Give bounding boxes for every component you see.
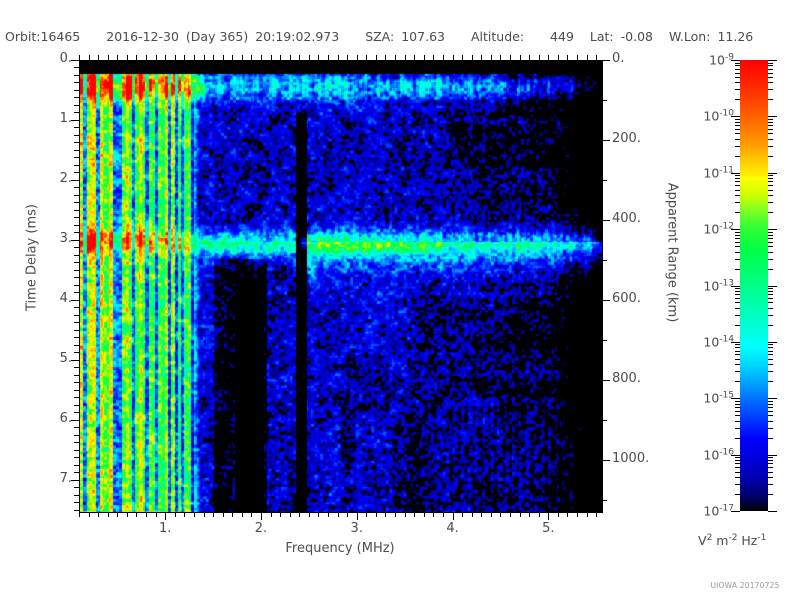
- y-minor-tick: [74, 472, 79, 473]
- frequency-axis-title: Frequency (MHz): [79, 541, 601, 556]
- x-minor-tick: [223, 512, 224, 517]
- colorbar-tick-label: 10-12: [703, 222, 734, 237]
- colorbar-minor-tick-right: [768, 235, 773, 236]
- x-top-tick: [453, 55, 454, 60]
- x-minor-tick: [251, 512, 252, 517]
- sza-value: 107.63: [401, 29, 445, 44]
- colorbar-minor-tick-right: [768, 181, 773, 182]
- y-minor-tick: [74, 345, 79, 346]
- colorbar-minor-tick-right: [768, 259, 773, 260]
- x-minor-tick: [98, 512, 99, 517]
- colorbar-tick-mantissa: 10: [703, 278, 719, 293]
- y-minor-tick: [74, 412, 79, 413]
- y-minor-tick: [74, 150, 79, 151]
- x-top-tick: [510, 55, 511, 60]
- x-minor-tick: [366, 512, 367, 517]
- y-minor-tick: [74, 75, 79, 76]
- x-minor-tick: [376, 512, 377, 517]
- x-minor-tick: [424, 512, 425, 517]
- y-minor-tick: [74, 375, 79, 376]
- latitude-label: Lat:: [590, 29, 614, 44]
- y-major-tick: [71, 300, 79, 301]
- colorbar-minor-tick-right: [768, 133, 773, 134]
- colorbar-minor-tick-right: [768, 139, 773, 140]
- colorbar-minor-tick-right: [768, 415, 773, 416]
- x-minor-tick: [347, 512, 348, 517]
- x-top-tick: [290, 55, 291, 60]
- time-delay-tick-label: 6.: [60, 411, 72, 426]
- colorbar-minor-tick-right: [768, 238, 773, 239]
- time-delay-axis-title: Time Delay (ms): [25, 188, 40, 328]
- y-minor-tick: [74, 450, 79, 451]
- x-minor-tick: [136, 512, 137, 517]
- y-minor-tick: [74, 255, 79, 256]
- y-minor-tick: [74, 292, 79, 293]
- y-minor-tick: [74, 105, 79, 106]
- y-minor-tick: [74, 232, 79, 233]
- x-top-tick: [146, 55, 147, 60]
- x-minor-tick: [89, 512, 90, 517]
- x-minor-tick: [414, 512, 415, 517]
- colorbar-tick-mantissa: 10: [703, 447, 719, 462]
- y2-minor-tick: [602, 180, 607, 181]
- y-minor-tick: [74, 90, 79, 91]
- x-top-tick: [328, 55, 329, 60]
- apparent-range-tick-label: 1000.: [612, 451, 649, 466]
- x-top-tick: [299, 55, 300, 60]
- colorbar-minor-tick-right: [768, 411, 773, 412]
- colorbar-major-tick-right: [768, 229, 777, 230]
- x-top-tick: [405, 55, 406, 60]
- colorbar-minor-tick-right: [768, 371, 773, 372]
- y2-major-tick: [602, 460, 610, 461]
- x-top-tick: [136, 55, 137, 60]
- colorbar-minor-tick-right: [768, 472, 773, 473]
- x-minor-tick: [204, 512, 205, 517]
- x-top-tick: [472, 55, 473, 60]
- x-top-tick: [596, 55, 597, 60]
- colorbar-minor-tick-right: [768, 252, 773, 253]
- x-minor-tick: [472, 512, 473, 517]
- x-major-tick: [165, 512, 166, 520]
- x-top-tick: [232, 55, 233, 60]
- y-major-tick: [71, 180, 79, 181]
- y2-minor-tick: [602, 260, 607, 261]
- x-top-tick: [567, 55, 568, 60]
- y-minor-tick: [74, 367, 79, 368]
- x-top-tick: [558, 55, 559, 60]
- x-top-tick: [271, 55, 272, 60]
- x-minor-tick: [577, 512, 578, 517]
- y2-major-tick: [602, 220, 610, 221]
- frequency-tick-label: 1.: [159, 521, 171, 536]
- y-minor-tick: [74, 82, 79, 83]
- colorbar-tick-exponent: -16: [719, 447, 734, 457]
- y2-major-tick: [602, 60, 610, 61]
- y-major-tick: [71, 420, 79, 421]
- x-top-tick: [385, 55, 386, 60]
- y2-major-tick: [602, 300, 610, 301]
- x-top-tick: [108, 55, 109, 60]
- colorbar-minor-tick-right: [768, 404, 773, 405]
- y-minor-tick: [74, 390, 79, 391]
- colorbar-tick-exponent: -17: [719, 503, 734, 513]
- colorbar-minor-tick-right: [768, 467, 773, 468]
- colorbar-tick-label: 10-10: [703, 109, 734, 124]
- x-minor-tick: [481, 512, 482, 517]
- colorbar-minor-tick-right: [768, 294, 773, 295]
- x-minor-tick: [194, 512, 195, 517]
- y-minor-tick: [74, 157, 79, 158]
- time-delay-tick-label: 2.: [60, 171, 72, 186]
- colorbar-minor-tick-right: [768, 463, 773, 464]
- colorbar-tick-exponent: -13: [719, 278, 734, 288]
- y-minor-tick: [74, 442, 79, 443]
- x-major-tick: [357, 512, 358, 520]
- x-top-tick: [175, 55, 176, 60]
- x-top-tick: [127, 55, 128, 60]
- x-minor-tick: [290, 512, 291, 517]
- colorbar-minor-tick-right: [768, 407, 773, 408]
- x-top-tick: [424, 55, 425, 60]
- y-minor-tick: [74, 307, 79, 308]
- colorbar-minor-tick-right: [768, 65, 773, 66]
- unit-hz: Hz: [737, 533, 757, 548]
- time-delay-tick-label: 4.: [60, 291, 72, 306]
- y-minor-tick: [74, 97, 79, 98]
- x-minor-tick: [385, 512, 386, 517]
- y-minor-tick: [74, 225, 79, 226]
- colorbar-minor-tick-right: [768, 359, 773, 360]
- colorbar-minor-tick-right: [768, 77, 773, 78]
- observation-date: 2016-12-30: [106, 29, 179, 44]
- observation-time: 20:19:02.973: [255, 29, 339, 44]
- colorbar-tick-label: 10-16: [703, 447, 734, 462]
- x-minor-tick: [213, 512, 214, 517]
- x-minor-tick: [184, 512, 185, 517]
- colorbar-minor-tick-right: [768, 232, 773, 233]
- colorbar-minor-tick-right: [768, 477, 773, 478]
- colorbar-tick-exponent: -12: [719, 222, 734, 232]
- y-minor-tick: [74, 285, 79, 286]
- x-minor-tick: [175, 512, 176, 517]
- colorbar-minor-tick-right: [768, 298, 773, 299]
- colorbar-minor-tick-right: [768, 156, 773, 157]
- apparent-range-tick-label: 400.: [612, 211, 641, 226]
- x-top-tick: [414, 55, 415, 60]
- x-major-tick: [453, 512, 454, 520]
- x-top-tick: [548, 55, 549, 60]
- x-top-tick: [204, 55, 205, 60]
- x-top-tick: [165, 55, 166, 60]
- time-delay-tick-label: 7.: [60, 471, 72, 486]
- y-minor-tick: [74, 315, 79, 316]
- x-minor-tick: [567, 512, 568, 517]
- x-top-tick: [539, 55, 540, 60]
- x-top-tick: [395, 55, 396, 60]
- x-top-tick: [338, 55, 339, 60]
- x-top-tick: [433, 55, 434, 60]
- colorbar-tick-labels: 10-910-1010-1110-1210-1310-1410-1510-161…: [676, 0, 734, 600]
- x-minor-tick: [146, 512, 147, 517]
- x-minor-tick: [491, 512, 492, 517]
- colorbar-major-tick-right: [768, 511, 777, 512]
- colorbar-minor-tick-right: [768, 347, 773, 348]
- colorbar-minor-tick-right: [768, 175, 773, 176]
- y-minor-tick: [74, 397, 79, 398]
- colorbar-minor-tick-right: [768, 99, 773, 100]
- colorbar-minor-tick-right: [768, 69, 773, 70]
- colorbar-tick-label: 10-17: [703, 503, 734, 518]
- y-minor-tick: [74, 127, 79, 128]
- colorbar-minor-tick-right: [768, 202, 773, 203]
- unit-v: V: [698, 533, 707, 548]
- x-top-tick: [318, 55, 319, 60]
- x-minor-tick: [338, 512, 339, 517]
- y-minor-tick: [74, 510, 79, 511]
- x-top-tick: [529, 55, 530, 60]
- colorbar-minor-tick-right: [768, 185, 773, 186]
- x-top-tick: [376, 55, 377, 60]
- colorbar-major-tick-right: [768, 116, 777, 117]
- colorbar-minor-tick-right: [768, 325, 773, 326]
- y-minor-tick: [74, 277, 79, 278]
- y2-major-tick: [602, 380, 610, 381]
- colorbar-minor-tick-right: [768, 381, 773, 382]
- x-minor-tick: [318, 512, 319, 517]
- y-minor-tick: [74, 382, 79, 383]
- x-top-tick: [366, 55, 367, 60]
- x-top-tick: [357, 55, 358, 60]
- y-minor-tick: [74, 195, 79, 196]
- colorbar-minor-tick-right: [768, 146, 773, 147]
- colorbar-major-tick-right: [768, 173, 777, 174]
- colorbar-minor-tick-right: [768, 421, 773, 422]
- frequency-tick-label: 3.: [351, 521, 363, 536]
- colorbar-minor-tick-right: [768, 344, 773, 345]
- y-major-tick: [71, 120, 79, 121]
- y2-minor-tick: [602, 340, 607, 341]
- colorbar-tick-mantissa: 10: [703, 391, 719, 406]
- colorbar-minor-tick-right: [768, 494, 773, 495]
- colorbar-major-tick-right: [768, 286, 777, 287]
- y-minor-tick: [74, 435, 79, 436]
- x-top-tick: [251, 55, 252, 60]
- x-top-tick: [462, 55, 463, 60]
- frequency-tick-label: 5.: [542, 521, 554, 536]
- apparent-range-tick-label: 800.: [612, 371, 641, 386]
- x-minor-tick: [117, 512, 118, 517]
- x-minor-tick: [309, 512, 310, 517]
- x-top-tick: [280, 55, 281, 60]
- x-minor-tick: [79, 512, 80, 517]
- colorbar-minor-tick-right: [768, 178, 773, 179]
- colorbar-minor-tick-right: [768, 457, 773, 458]
- x-top-tick: [213, 55, 214, 60]
- colorbar-tick-label: 10-9: [709, 52, 734, 67]
- colorbar-minor-tick-right: [768, 242, 773, 243]
- x-minor-tick: [328, 512, 329, 517]
- colorbar-minor-tick-right: [768, 125, 773, 126]
- colorbar-minor-tick-right: [768, 212, 773, 213]
- x-top-tick: [587, 55, 588, 60]
- colorbar-tick-exponent: -9: [725, 52, 734, 62]
- y-minor-tick: [74, 270, 79, 271]
- y-minor-tick: [74, 487, 79, 488]
- x-minor-tick: [156, 512, 157, 517]
- y-minor-tick: [74, 337, 79, 338]
- colorbar-unit-label: V2 m-2 Hz-1: [698, 533, 766, 548]
- colorbar-gradient: [740, 60, 768, 511]
- colorbar-minor-tick-right: [768, 291, 773, 292]
- y-major-tick: [71, 240, 79, 241]
- colorbar-minor-tick-right: [768, 119, 773, 120]
- x-minor-tick: [500, 512, 501, 517]
- x-top-tick: [481, 55, 482, 60]
- y-minor-tick: [74, 217, 79, 218]
- x-top-tick: [242, 55, 243, 60]
- x-major-tick: [548, 512, 549, 520]
- x-top-tick: [500, 55, 501, 60]
- colorbar-major-tick-right: [768, 342, 777, 343]
- frequency-tick-label: 4.: [446, 521, 458, 536]
- y-minor-tick: [74, 502, 79, 503]
- unit-hz-exponent: -1: [757, 533, 766, 543]
- apparent-range-tick-label: 200.: [612, 131, 641, 146]
- time-delay-tick-label: 1.: [60, 111, 72, 126]
- colorbar-minor-tick-right: [768, 122, 773, 123]
- y-major-tick: [71, 360, 79, 361]
- colorbar-minor-tick-right: [768, 288, 773, 289]
- colorbar-minor-tick-right: [768, 460, 773, 461]
- x-top-tick: [443, 55, 444, 60]
- colorbar-minor-tick-right: [768, 401, 773, 402]
- x-minor-tick: [299, 512, 300, 517]
- apparent-range-axis-labels: 0.200.400.600.800.1000.: [612, 0, 672, 600]
- y-minor-tick: [74, 330, 79, 331]
- x-minor-tick: [405, 512, 406, 517]
- x-top-tick: [520, 55, 521, 60]
- colorbar-minor-tick-right: [768, 302, 773, 303]
- y-minor-tick: [74, 262, 79, 263]
- x-minor-tick: [529, 512, 530, 517]
- y-minor-tick: [74, 202, 79, 203]
- y-minor-tick: [74, 352, 79, 353]
- colorbar-tick-mantissa: 10: [703, 109, 719, 124]
- frequency-tick-label: 2.: [255, 521, 267, 536]
- colorbar-tick-exponent: -11: [719, 165, 734, 175]
- x-minor-tick: [433, 512, 434, 517]
- colorbar-minor-tick-right: [768, 269, 773, 270]
- x-top-tick: [347, 55, 348, 60]
- y-minor-tick: [74, 427, 79, 428]
- ionogram-plot-area: [79, 60, 603, 513]
- y-minor-tick: [74, 405, 79, 406]
- y2-major-tick: [602, 140, 610, 141]
- institution-watermark: UIOWA 20170725: [710, 581, 779, 590]
- colorbar-tick-label: 10-14: [703, 334, 734, 349]
- x-minor-tick: [280, 512, 281, 517]
- y-minor-tick: [74, 67, 79, 68]
- x-top-tick: [223, 55, 224, 60]
- y-minor-tick: [74, 322, 79, 323]
- sza-label: SZA:: [365, 29, 394, 44]
- y-minor-tick: [74, 187, 79, 188]
- x-top-tick: [194, 55, 195, 60]
- colorbar-tick-mantissa: 10: [703, 334, 719, 349]
- y-minor-tick: [74, 465, 79, 466]
- day-of-year: (Day 365): [186, 29, 248, 44]
- colorbar-minor-tick-right: [768, 246, 773, 247]
- y-minor-tick: [74, 135, 79, 136]
- colorbar-minor-tick-right: [768, 364, 773, 365]
- colorbar-minor-tick-right: [768, 315, 773, 316]
- x-minor-tick: [108, 512, 109, 517]
- y-minor-tick: [74, 172, 79, 173]
- colorbar-minor-tick-right: [768, 308, 773, 309]
- x-minor-tick: [558, 512, 559, 517]
- unit-m: m: [712, 533, 728, 548]
- y-minor-tick: [74, 142, 79, 143]
- colorbar-tick-mantissa: 10: [703, 222, 719, 237]
- x-minor-tick: [539, 512, 540, 517]
- colorbar-minor-tick-right: [768, 428, 773, 429]
- altitude-value: 449: [550, 29, 574, 44]
- x-top-tick: [156, 55, 157, 60]
- time-delay-tick-label: 3.: [60, 231, 72, 246]
- y-major-tick: [71, 480, 79, 481]
- x-top-tick: [98, 55, 99, 60]
- apparent-range-tick-label: 600.: [612, 291, 641, 306]
- colorbar-minor-tick-right: [768, 63, 773, 64]
- colorbar-minor-tick-right: [768, 195, 773, 196]
- time-delay-tick-label: 5.: [60, 351, 72, 366]
- x-minor-tick: [271, 512, 272, 517]
- spectrogram-heatmap: [80, 61, 602, 512]
- x-top-tick: [79, 55, 80, 60]
- x-minor-tick: [443, 512, 444, 517]
- colorbar-tick-mantissa: 10: [703, 165, 719, 180]
- x-top-tick: [89, 55, 90, 60]
- y2-minor-tick: [602, 500, 607, 501]
- x-top-tick: [491, 55, 492, 60]
- colorbar-minor-tick-right: [768, 484, 773, 485]
- colorbar-minor-tick-right: [768, 73, 773, 74]
- colorbar-tick-label: 10-15: [703, 391, 734, 406]
- colorbar-minor-tick-right: [768, 82, 773, 83]
- colorbar-tick-exponent: -14: [719, 334, 734, 344]
- colorbar-minor-tick-right: [768, 438, 773, 439]
- colorbar-tick-label: 10-13: [703, 278, 734, 293]
- y2-minor-tick: [602, 420, 607, 421]
- x-minor-tick: [520, 512, 521, 517]
- y-minor-tick: [74, 495, 79, 496]
- x-minor-tick: [395, 512, 396, 517]
- y-minor-tick: [74, 112, 79, 113]
- y-minor-tick: [74, 165, 79, 166]
- y-minor-tick: [74, 247, 79, 248]
- colorbar: [740, 60, 768, 511]
- y-minor-tick: [74, 210, 79, 211]
- x-minor-tick: [242, 512, 243, 517]
- time-delay-tick-label: 0.: [60, 51, 72, 66]
- colorbar-minor-tick-right: [768, 89, 773, 90]
- colorbar-tick-exponent: -15: [719, 391, 734, 401]
- x-minor-tick: [587, 512, 588, 517]
- colorbar-tick-mantissa: 10: [709, 53, 725, 68]
- y-minor-tick: [74, 457, 79, 458]
- x-major-tick: [261, 512, 262, 520]
